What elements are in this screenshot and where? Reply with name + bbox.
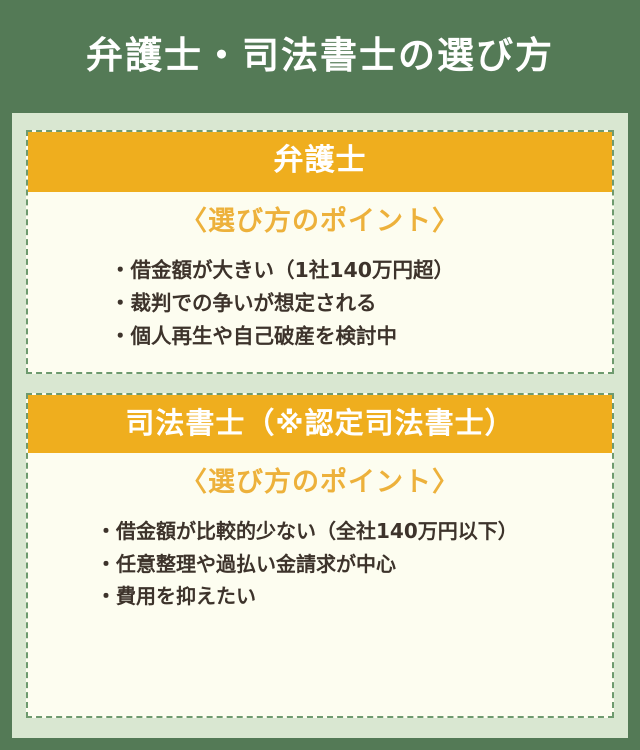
list-item: 裁判での争いが想定される <box>110 287 602 320</box>
list-item: 費用を抑えたい <box>96 580 602 612</box>
page-title: 弁護士・司法書士の選び方 <box>86 36 554 77</box>
card-lawyer-header: 弁護士 <box>28 132 612 192</box>
infographic-root: 弁護士・司法書士の選び方 弁護士 〈選び方のポイント〉 借金額が大きい（1社14… <box>0 0 640 750</box>
card-lawyer-points-list: 借金額が大きい（1社140万円超） 裁判での争いが想定される 個人再生や自己破産… <box>38 254 602 354</box>
list-item: 借金額が大きい（1社140万円超） <box>110 254 602 287</box>
list-item: 任意整理や過払い金請求が中心 <box>96 548 602 580</box>
list-item: 借金額が比較的少ない（全社140万円以下） <box>96 515 602 547</box>
card-judicial-scrivener-header: 司法書士（※認定司法書士） <box>28 395 612 453</box>
card-lawyer-body: 〈選び方のポイント〉 借金額が大きい（1社140万円超） 裁判での争いが想定され… <box>28 192 612 372</box>
card-judicial-scrivener-points-list: 借金額が比較的少ない（全社140万円以下） 任意整理や過払い金請求が中心 費用を… <box>38 515 602 612</box>
list-item: 個人再生や自己破産を検討中 <box>110 320 602 353</box>
card-judicial-scrivener: 司法書士（※認定司法書士） 〈選び方のポイント〉 借金額が比較的少ない（全社14… <box>26 393 614 719</box>
card-lawyer: 弁護士 〈選び方のポイント〉 借金額が大きい（1社140万円超） 裁判での争いが… <box>26 130 614 374</box>
page-title-bar: 弁護士・司法書士の選び方 <box>0 0 640 113</box>
card-lawyer-points-title: 〈選び方のポイント〉 <box>38 206 602 238</box>
card-judicial-scrivener-body: 〈選び方のポイント〉 借金額が比較的少ない（全社140万円以下） 任意整理や過払… <box>28 453 612 716</box>
card-judicial-scrivener-points-title: 〈選び方のポイント〉 <box>38 467 602 499</box>
content-panel: 弁護士 〈選び方のポイント〉 借金額が大きい（1社140万円超） 裁判での争いが… <box>12 113 628 738</box>
